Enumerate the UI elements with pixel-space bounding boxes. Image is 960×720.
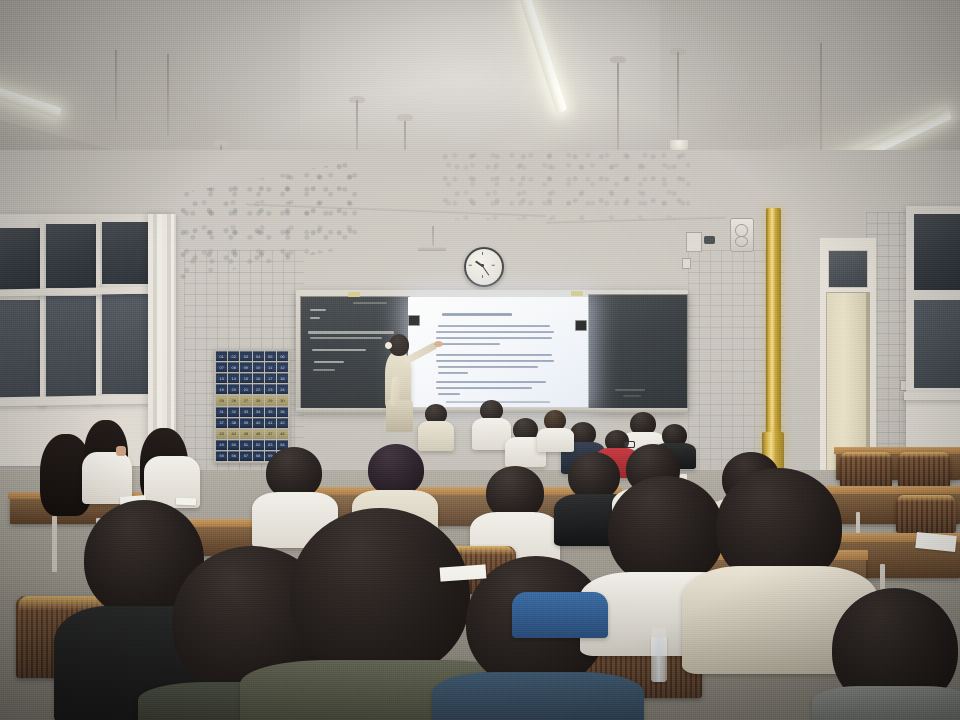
chalk-writing (310, 317, 320, 319)
phone-pocket[interactable]: 08 (228, 362, 239, 372)
window-pane (0, 300, 42, 402)
phone-pocket[interactable]: 56 (228, 451, 239, 461)
window-pane (914, 300, 960, 388)
phone-pocket[interactable]: 37 (216, 418, 227, 428)
phone-pocket[interactable]: 50 (228, 440, 239, 450)
window-mullion (40, 222, 44, 406)
chalk-writing (308, 331, 394, 334)
phone-pocket[interactable]: 01 (216, 351, 227, 361)
phone-pocket[interactable]: 48 (277, 429, 288, 439)
chair-back[interactable] (896, 495, 956, 533)
projector-mount-rod (432, 226, 434, 248)
phone-pocket[interactable]: 42 (277, 418, 288, 428)
student-torso (537, 428, 574, 452)
clock-center-pin (481, 264, 484, 267)
chalk-writing (312, 349, 366, 351)
window-pane (46, 224, 98, 288)
chalk-writing (353, 302, 387, 304)
teacher-skirt (386, 400, 413, 432)
phone-pocket[interactable]: 32 (228, 407, 239, 417)
phone-pocket[interactable]: 12 (277, 362, 288, 372)
phone-pocket[interactable]: 15 (240, 373, 251, 383)
speaker-grill-icon (735, 236, 748, 247)
student-torso (512, 592, 608, 638)
slide-text-line (436, 387, 532, 389)
phone-pocket[interactable]: 52 (253, 440, 264, 450)
phone-pocket[interactable]: 39 (240, 418, 251, 428)
door-transom-window (828, 250, 868, 288)
eyeglasses (624, 441, 635, 448)
ceiling-camera (704, 236, 715, 244)
phone-pocket[interactable]: 47 (265, 429, 276, 439)
slide-text-line (438, 325, 550, 327)
classroom-photo: 0102030405060708091011121314151617181920… (0, 0, 960, 720)
phone-pocket[interactable]: 16 (253, 373, 264, 383)
phone-pocket[interactable]: 44 (228, 429, 239, 439)
chalk-writing (314, 361, 344, 363)
phone-pocket[interactable]: 36 (277, 407, 288, 417)
phone-pocket[interactable]: 17 (265, 373, 276, 383)
phone-pocket[interactable]: 46 (253, 429, 264, 439)
phone-pocket[interactable]: 31 (216, 407, 227, 417)
phone-pocket[interactable]: 03 (240, 351, 251, 361)
slide-text-line (438, 366, 538, 368)
phone-pocket[interactable]: 49 (216, 440, 227, 450)
phone-pocket[interactable]: 20 (228, 384, 239, 394)
fan-rod (356, 100, 358, 152)
board-clip (571, 291, 583, 296)
slide-text-line (436, 354, 552, 356)
electrical-junction-box (686, 232, 702, 252)
chair-back[interactable] (840, 452, 892, 488)
wall-clock (464, 247, 504, 287)
student-torso (812, 686, 960, 720)
phone-pocket[interactable]: 02 (228, 351, 239, 361)
projected-slide[interactable] (408, 297, 588, 407)
phone-pocket[interactable]: 22 (253, 384, 264, 394)
wall-paint-mottling (440, 150, 690, 220)
chalk-writing (310, 309, 326, 311)
phone-pocket[interactable]: 41 (265, 418, 276, 428)
student-neck (116, 446, 126, 456)
phone-pocket[interactable]: 55 (216, 451, 227, 461)
window-mullion (96, 220, 100, 402)
phone-pocket[interactable]: 45 (240, 429, 251, 439)
phone-pocket[interactable]: 21 (240, 384, 251, 394)
slide-heading-line (442, 313, 512, 316)
phone-pocket[interactable]: 11 (265, 362, 276, 372)
student-head (568, 452, 620, 500)
slide-text-line (436, 337, 552, 339)
phone-pocket[interactable]: 38 (228, 418, 239, 428)
student-head-foreground (608, 476, 724, 586)
water-bottle[interactable] (651, 636, 667, 682)
phone-pocket[interactable]: 10 (253, 362, 264, 372)
phone-pocket[interactable]: 18 (277, 373, 288, 383)
phone-pocket[interactable]: 24 (277, 384, 288, 394)
phone-pocket[interactable]: 51 (240, 440, 251, 450)
fan-ceiling-mount (397, 114, 413, 121)
fan-ceiling-mount (610, 56, 626, 63)
phone-pocket[interactable]: 26 (228, 395, 239, 405)
teacher-hair-clip (385, 342, 392, 349)
phone-pocket[interactable]: 35 (265, 407, 276, 417)
chalk-writing (310, 337, 382, 339)
phone-pocket[interactable]: 53 (265, 440, 276, 450)
chair-back[interactable] (898, 452, 950, 488)
window-sill (904, 392, 960, 400)
phone-pocket[interactable]: 09 (240, 362, 251, 372)
slide-text-line (436, 331, 554, 333)
phone-pocket[interactable]: 23 (265, 384, 276, 394)
clock-tick (482, 252, 483, 255)
fan-rod (115, 50, 117, 120)
teacher-hand (434, 341, 443, 347)
phone-pocket[interactable]: 14 (228, 373, 239, 383)
window-pane (46, 296, 98, 398)
chalk-writing (623, 395, 641, 397)
slide-text-line (438, 393, 460, 395)
phone-pocket[interactable]: 43 (216, 429, 227, 439)
clock-tick (492, 265, 495, 266)
student-torso (432, 672, 644, 720)
window-pane (102, 222, 150, 284)
phone-pocket[interactable]: 06 (277, 351, 288, 361)
phone-pocket[interactable]: 27 (240, 395, 251, 405)
desk-surface (816, 486, 960, 494)
blackboard-right[interactable] (588, 294, 688, 410)
student-head-foreground (290, 508, 470, 678)
phone-pocket-chart[interactable]: 0102030405060708091011121314151617181920… (214, 349, 290, 463)
smartboard-sensor (575, 320, 587, 331)
fan-rod (167, 54, 169, 136)
fan-ceiling-mount (813, 36, 829, 43)
window-pane (0, 228, 42, 292)
phone-pocket[interactable]: 07 (216, 362, 227, 372)
phone-pocket[interactable]: 13 (216, 373, 227, 383)
clock-tick (469, 265, 472, 266)
bottle-cap (652, 628, 666, 637)
chalk-writing (313, 369, 335, 371)
projector-mount-bracket (418, 246, 446, 251)
slide-text-line (436, 381, 546, 383)
slide-text-line (436, 360, 554, 362)
phone-pocket[interactable]: 05 (265, 351, 276, 361)
student-torso (418, 421, 454, 451)
teacher-head (389, 334, 409, 356)
sheet-of-paper[interactable] (176, 498, 196, 506)
fan-rod (820, 40, 822, 150)
slide-text-line (438, 372, 468, 374)
phone-pocket[interactable]: 28 (253, 395, 264, 405)
phone-pocket[interactable]: 34 (253, 407, 264, 417)
phone-pocket[interactable]: 57 (240, 451, 251, 461)
board-clip (348, 292, 360, 297)
window-curtain[interactable] (148, 214, 174, 460)
phone-pocket[interactable]: 04 (253, 351, 264, 361)
phone-pocket[interactable]: 25 (216, 395, 227, 405)
window-pane (914, 214, 960, 290)
smartboard-sensor (408, 315, 420, 326)
chalk-writing (615, 389, 645, 391)
phone-pocket[interactable]: 29 (265, 395, 276, 405)
fan-rod (677, 52, 679, 140)
phone-pocket[interactable]: 40 (253, 418, 264, 428)
gold-foil-pillar (766, 208, 781, 452)
slide-text-line (438, 343, 500, 345)
chair-leg (52, 516, 57, 572)
phone-pocket[interactable]: 58 (253, 451, 264, 461)
wall-outlet (682, 258, 691, 269)
window-pane (102, 294, 150, 394)
phone-pocket[interactable]: 30 (277, 395, 288, 405)
student-head (368, 444, 424, 496)
clock-tick (482, 275, 483, 278)
phone-pocket[interactable]: 33 (240, 407, 251, 417)
phone-pocket[interactable]: 19 (216, 384, 227, 394)
